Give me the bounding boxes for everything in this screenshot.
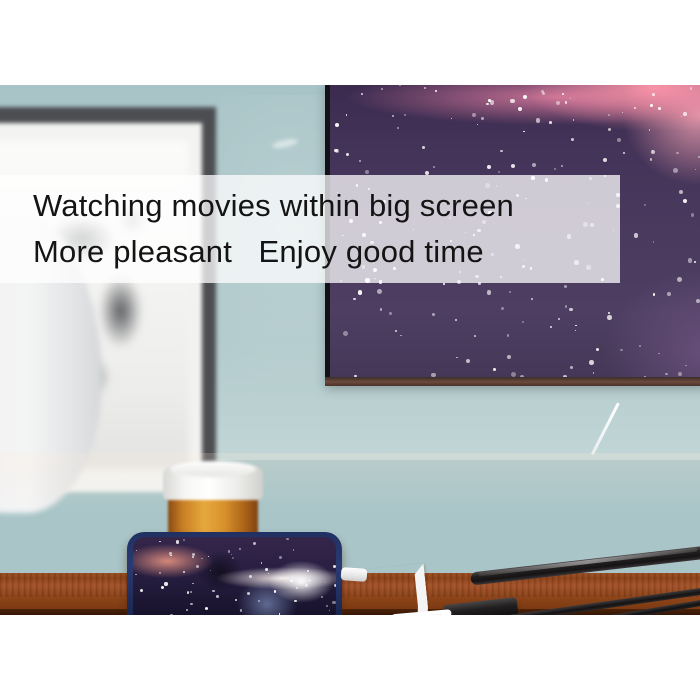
star [550, 326, 552, 328]
star [325, 582, 326, 583]
star [332, 601, 335, 604]
star [683, 199, 687, 203]
star [565, 101, 568, 104]
star [653, 293, 656, 296]
star [575, 325, 576, 326]
star [192, 553, 195, 556]
star [685, 365, 687, 367]
star [510, 99, 515, 104]
star [343, 331, 348, 336]
star [498, 171, 500, 173]
star [346, 114, 348, 116]
star [466, 359, 471, 364]
star [240, 609, 243, 612]
star [216, 595, 219, 598]
star [474, 335, 476, 337]
star [667, 292, 671, 296]
star [493, 368, 496, 371]
star [679, 190, 684, 195]
star [556, 101, 561, 106]
star [487, 290, 492, 295]
star [455, 319, 457, 321]
star [558, 318, 560, 320]
star [501, 307, 504, 310]
star [136, 550, 138, 552]
star [532, 163, 536, 167]
star [329, 610, 330, 611]
headline-line-2: More pleasant Enjoy good time [33, 229, 620, 275]
star [443, 283, 445, 285]
star [346, 153, 349, 156]
star [500, 150, 502, 152]
star [422, 146, 425, 149]
star [696, 299, 700, 303]
star [658, 353, 660, 355]
star [212, 590, 214, 592]
star [135, 574, 136, 575]
star [169, 552, 172, 555]
star [644, 204, 646, 206]
star [573, 119, 574, 120]
star [490, 100, 495, 105]
star [232, 557, 234, 559]
star [564, 285, 567, 288]
star [183, 539, 185, 541]
star [353, 298, 356, 301]
star [565, 305, 567, 307]
star [231, 554, 232, 555]
star [622, 112, 623, 113]
star [293, 549, 295, 551]
star [210, 570, 212, 572]
star [334, 540, 336, 542]
star [395, 330, 398, 333]
star [321, 596, 324, 599]
star [187, 591, 189, 593]
star [634, 107, 635, 108]
star [164, 582, 167, 585]
star [617, 138, 621, 142]
star [523, 95, 527, 99]
star [694, 261, 697, 264]
star [677, 277, 682, 282]
star [432, 313, 435, 316]
star [228, 550, 230, 552]
star [392, 115, 395, 118]
star [170, 555, 171, 556]
star [433, 166, 435, 168]
star [424, 87, 426, 89]
star [596, 348, 599, 351]
star [359, 160, 361, 162]
star [296, 587, 298, 589]
product-image-canvas: Watching movies within big screen More p… [0, 0, 700, 700]
star [691, 213, 695, 217]
star [280, 577, 281, 578]
star [161, 586, 164, 589]
star [268, 573, 269, 574]
star [336, 592, 337, 594]
star [258, 600, 260, 602]
star [435, 90, 437, 92]
star [335, 123, 339, 127]
amber-jar-lid-top [170, 461, 256, 477]
star [380, 308, 383, 311]
star [176, 540, 179, 543]
star [507, 355, 511, 359]
star [536, 118, 541, 123]
star [377, 289, 382, 294]
star [456, 357, 458, 359]
smartphone [127, 532, 342, 615]
star [472, 113, 476, 117]
letterbox-top [0, 0, 700, 85]
star [235, 599, 237, 601]
star [531, 298, 533, 300]
star [673, 168, 678, 173]
star [571, 138, 574, 141]
star [487, 165, 491, 169]
star [279, 556, 282, 559]
star [290, 580, 292, 582]
star [688, 258, 692, 262]
star [639, 345, 641, 347]
star [159, 541, 161, 543]
star [400, 335, 402, 337]
star [509, 291, 511, 293]
caption-band: Watching movies within big screen More p… [0, 175, 620, 283]
star [620, 349, 623, 352]
star [305, 584, 308, 587]
star [261, 562, 262, 563]
star [652, 93, 655, 96]
star [650, 158, 652, 160]
star [623, 152, 625, 154]
star [522, 321, 524, 323]
star [541, 90, 543, 92]
star [358, 290, 363, 295]
star [326, 605, 328, 607]
star [690, 87, 693, 90]
star [523, 131, 525, 133]
star [247, 592, 250, 595]
star [634, 233, 639, 238]
star [397, 127, 399, 129]
star [653, 241, 654, 242]
star [658, 107, 661, 110]
star [334, 584, 336, 587]
star [695, 169, 697, 171]
star [239, 548, 241, 550]
star [381, 88, 383, 90]
lifestyle-photo [0, 85, 700, 615]
star [201, 558, 202, 559]
star [603, 158, 607, 162]
star [681, 116, 683, 118]
star [365, 170, 369, 174]
lightning-cable [352, 563, 432, 615]
star [507, 334, 510, 337]
star [570, 98, 571, 99]
star [549, 121, 552, 124]
star [608, 114, 610, 116]
star [294, 600, 297, 603]
letterbox-bottom [0, 615, 700, 700]
star [676, 152, 678, 154]
star [561, 165, 563, 167]
star [683, 112, 687, 116]
star [253, 542, 256, 545]
star [650, 104, 654, 108]
star [249, 575, 252, 578]
star [698, 156, 700, 158]
star [593, 372, 595, 374]
star [608, 128, 611, 131]
star [451, 118, 452, 119]
star [589, 360, 594, 365]
phone-screen-starfield [133, 537, 336, 615]
star [477, 124, 478, 125]
star [183, 571, 186, 574]
star [196, 565, 199, 568]
star [190, 591, 192, 593]
star [307, 570, 309, 572]
star [274, 590, 277, 593]
star [192, 556, 194, 558]
star [486, 103, 488, 105]
star [333, 565, 336, 568]
star [399, 85, 401, 86]
star [481, 117, 484, 120]
star [205, 607, 208, 610]
star [569, 308, 573, 312]
star [607, 315, 612, 320]
star [266, 568, 269, 571]
star [140, 589, 143, 592]
star [309, 580, 311, 582]
star [554, 168, 556, 170]
star [389, 312, 392, 315]
tv-bottom-bezel [325, 377, 700, 386]
star [665, 373, 667, 375]
star [678, 372, 682, 376]
star [575, 330, 576, 331]
star [562, 93, 564, 95]
star [518, 107, 523, 112]
star [159, 572, 161, 574]
star [608, 312, 610, 314]
star [186, 609, 189, 612]
star [404, 114, 406, 116]
headline-line-1: Watching movies within big screen [33, 183, 620, 229]
star [192, 583, 194, 585]
desk-surface-sheen [0, 453, 700, 515]
smartphone-screen [133, 537, 336, 615]
star [208, 556, 210, 558]
star [570, 366, 573, 369]
star [649, 129, 650, 130]
star [361, 93, 363, 95]
star [190, 603, 192, 605]
star [511, 164, 515, 168]
star [286, 538, 289, 541]
